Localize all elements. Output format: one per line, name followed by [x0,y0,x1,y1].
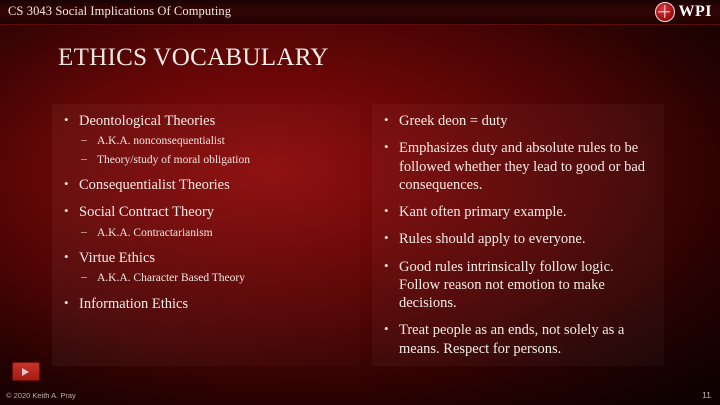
sub-list-item-label: Theory/study of moral obligation [97,154,250,166]
bullet-icon: • [64,203,69,219]
bullet-icon: • [64,112,69,128]
list-item-label: Information Ethics [79,296,188,312]
slide-header-bar: CS 3043 Social Implications Of Computing… [0,0,720,25]
copyright-note: © 2020 Keith A. Pray [6,391,76,400]
list-item-label: Virtue Ethics [79,250,155,266]
sub-list-item: – A.K.A. nonconsequentialist [79,134,350,148]
list-item: • Consequentialist Theories [62,176,350,194]
list-item: • Information Ethics [62,295,350,313]
dash-bullet-icon: – [81,152,87,166]
list-item-label: Treat people as an ends, not solely as a… [399,322,624,356]
bullet-icon: • [64,176,69,192]
left-content-panel: • Deontological Theories – A.K.A. noncon… [52,104,360,366]
sub-bullet-list: – A.K.A. nonconsequentialist – Theory/st… [79,134,350,167]
list-item-label: Consequentialist Theories [79,177,230,193]
list-item: • Greek deon = duty [382,112,654,130]
page-title: ETHICS VOCABULARY [58,44,329,72]
bullet-icon: • [384,230,389,246]
bullet-icon: • [384,321,389,337]
list-item: • Treat people as an ends, not solely as… [382,321,654,358]
bullet-icon: • [384,203,389,219]
list-item: • Rules should apply to everyone. [382,230,654,248]
list-item-label: Kant often primary example. [399,204,567,220]
bullet-icon: • [384,258,389,274]
bullet-icon: • [64,249,69,265]
right-content-panel: • Greek deon = duty • Emphasizes duty an… [372,104,664,366]
slide: CS 3043 Social Implications Of Computing… [0,0,720,405]
list-item-label: Emphasizes duty and absolute rules to be… [399,140,645,193]
wpi-seal-icon [655,2,675,22]
dash-bullet-icon: – [81,225,87,239]
list-item-label: Deontological Theories [79,113,215,129]
sub-list-item-label: A.K.A. Character Based Theory [97,272,245,284]
course-title: CS 3043 Social Implications Of Computing [8,4,231,19]
sub-list-item: – A.K.A. Character Based Theory [79,271,350,285]
wpi-logo: WPI [655,2,713,22]
sub-bullet-list: – A.K.A. Character Based Theory [79,271,350,285]
list-item-label: Greek deon = duty [399,113,507,129]
dash-bullet-icon: – [81,133,87,147]
sub-list-item: – Theory/study of moral obligation [79,153,350,167]
sub-list-item-label: A.K.A. nonconsequentialist [97,135,225,147]
page-number: 11 [702,390,711,400]
bullet-icon: • [64,295,69,311]
list-item: • Emphasizes duty and absolute rules to … [382,139,654,194]
video-play-icon[interactable] [12,362,40,381]
list-item: • Deontological Theories – A.K.A. noncon… [62,112,350,167]
sub-bullet-list: – A.K.A. Contractarianism [79,226,350,240]
sub-list-item: – A.K.A. Contractarianism [79,226,350,240]
list-item: • Virtue Ethics – A.K.A. Character Based… [62,249,350,286]
list-item: • Kant often primary example. [382,203,654,221]
list-item-label: Rules should apply to everyone. [399,231,585,247]
dash-bullet-icon: – [81,270,87,284]
left-bullet-list: • Deontological Theories – A.K.A. noncon… [62,112,350,313]
list-item-label: Good rules intrinsically follow logic. F… [399,259,614,312]
bullet-icon: • [384,112,389,128]
bullet-icon: • [384,139,389,155]
list-item-label: Social Contract Theory [79,204,214,220]
list-item: • Social Contract Theory – A.K.A. Contra… [62,203,350,240]
sub-list-item-label: A.K.A. Contractarianism [97,227,213,239]
right-bullet-list: • Greek deon = duty • Emphasizes duty an… [382,112,654,358]
wpi-wordmark: WPI [679,3,713,21]
list-item: • Good rules intrinsically follow logic.… [382,258,654,313]
